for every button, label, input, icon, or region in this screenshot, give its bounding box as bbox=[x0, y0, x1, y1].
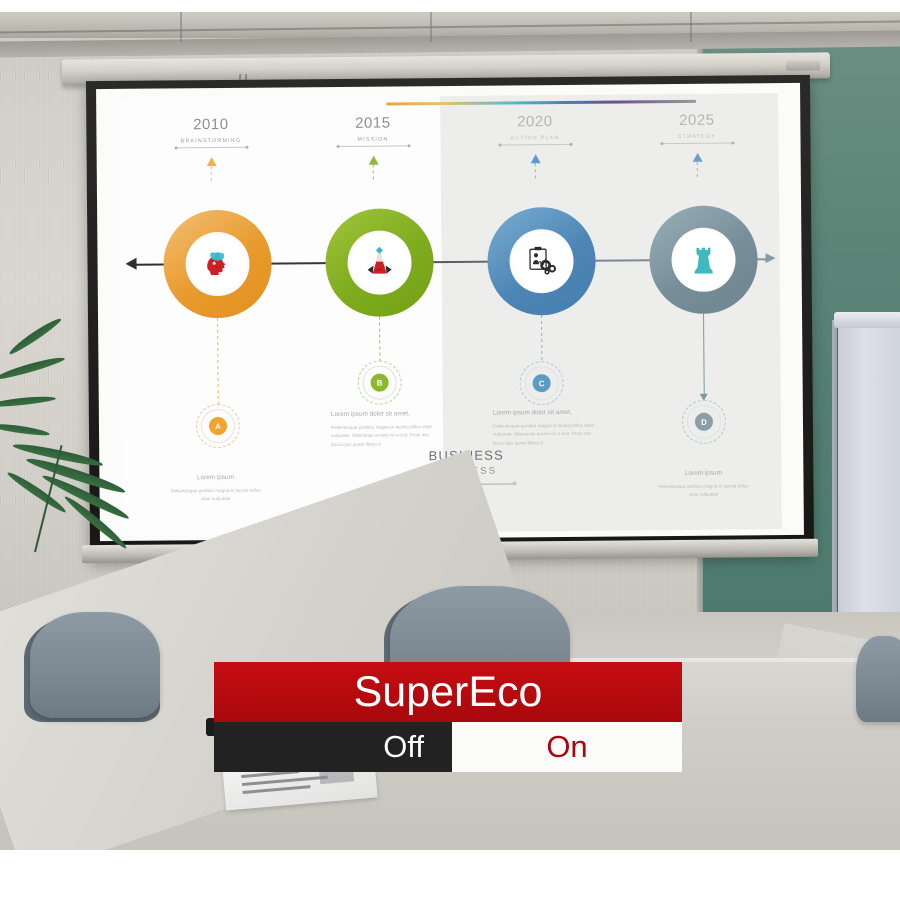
milestone-badge-d[interactable]: D bbox=[682, 400, 726, 444]
body-heading: Lorem ipsum bbox=[655, 467, 751, 480]
milestone-column-2010: 2010 BRAINSTORMING bbox=[128, 115, 294, 182]
connector-line-2010 bbox=[217, 318, 219, 404]
body-text: Pellentesque porttitor magna in lacinia … bbox=[659, 483, 749, 497]
milestone-ring-2020[interactable] bbox=[487, 207, 596, 316]
milestone-body-2015: Lorem ipsum dolor sit amet, Pellentesque… bbox=[331, 408, 435, 449]
badge-letter: A bbox=[209, 417, 227, 435]
milestone-body-2020: Lorem ipsum dolor sit amet, Pellentesque… bbox=[493, 407, 597, 448]
ceiling-tile-joint bbox=[690, 12, 692, 42]
milestone-dashed-stem bbox=[211, 166, 212, 182]
badge-letter: D bbox=[695, 413, 713, 431]
banner-off-label: Off bbox=[383, 729, 424, 765]
palm-frond bbox=[0, 394, 56, 408]
milestone-label: STRATEGY bbox=[614, 133, 779, 140]
body-text: Pellentesque porttitor magna in lacinia … bbox=[171, 488, 261, 502]
body-text: Pellentesque porttitor magna in lacinia … bbox=[331, 424, 432, 447]
banner-on-label: On bbox=[546, 729, 587, 765]
milestone-year: 2010 bbox=[128, 115, 293, 133]
chair-right[interactable] bbox=[856, 636, 900, 722]
badge-letter: C bbox=[533, 374, 551, 392]
ceiling-tile-joint bbox=[430, 12, 432, 42]
badge-letter: B bbox=[371, 374, 389, 392]
body-heading: Lorem ipsum dolor sit amet, bbox=[331, 408, 435, 421]
milestone-label: BRAINSTORMING bbox=[128, 137, 293, 144]
milestone-marker-triangle bbox=[530, 154, 540, 163]
palm-frond bbox=[0, 422, 50, 437]
timeline-arrow-left-icon bbox=[126, 258, 137, 270]
milestone-column-2025: 2025 STRATEGY bbox=[614, 111, 780, 178]
body-heading: Lorem ipsum dolor sit amet, bbox=[493, 407, 597, 420]
milestone-dashed-stem bbox=[373, 165, 374, 181]
connector-line-2015 bbox=[379, 317, 380, 361]
milestone-badge-a[interactable]: A bbox=[196, 404, 240, 448]
milestone-year: 2020 bbox=[452, 113, 617, 131]
milestone-icon-well bbox=[509, 229, 574, 294]
palm-frond bbox=[6, 469, 69, 515]
milestone-marker-triangle bbox=[368, 156, 378, 165]
milestone-label: MISSION bbox=[290, 136, 455, 143]
supereco-banner: SuperEco Off On bbox=[214, 662, 682, 772]
milestone-year: 2025 bbox=[614, 111, 779, 129]
milestone-badge-b[interactable]: B bbox=[357, 360, 401, 404]
milestone-body-2010: Lorem ipsum Pellentesque porttitor magna… bbox=[167, 472, 263, 505]
milestone-dashed-stem bbox=[535, 163, 536, 179]
milestone-icon-well bbox=[185, 232, 250, 297]
milestone-underline bbox=[175, 147, 247, 149]
palm-frond bbox=[7, 315, 63, 356]
chair-left[interactable] bbox=[30, 612, 160, 718]
milestone-icon-well bbox=[671, 228, 736, 293]
conference-room-photo: 2010 BRAINSTORMING 2015 MISSION 2020 ACT… bbox=[0, 12, 900, 850]
milestone-marker-triangle bbox=[206, 157, 216, 166]
flipchart-edge bbox=[832, 320, 837, 624]
palm-frond bbox=[0, 354, 66, 382]
head-brain-icon bbox=[200, 247, 234, 281]
milestone-icon-well bbox=[347, 230, 412, 295]
screenshot-root: 2010 BRAINSTORMING 2015 MISSION 2020 ACT… bbox=[0, 0, 900, 900]
clipboard-gears-icon bbox=[524, 244, 558, 278]
flipchart-board bbox=[838, 320, 900, 624]
body-text: Pellentesque porttitor magna in lacinia … bbox=[493, 423, 594, 446]
milestone-label: ACTION PLAN bbox=[452, 135, 617, 142]
milestone-ring-2025[interactable] bbox=[649, 205, 758, 314]
document-line bbox=[242, 776, 328, 786]
milestone-body-2025: Lorem ipsum Pellentesque porttitor magna… bbox=[655, 467, 751, 500]
banner-title: SuperEco bbox=[354, 668, 543, 717]
ceiling-tile-joint bbox=[180, 12, 182, 42]
milestone-ring-2010[interactable] bbox=[163, 210, 272, 319]
milestone-underline bbox=[661, 143, 733, 145]
milestone-ring-2015[interactable] bbox=[325, 208, 434, 317]
milestone-column-2020: 2020 ACTION PLAN bbox=[452, 113, 618, 180]
housing-end-cap bbox=[786, 60, 820, 70]
banner-on-cell[interactable]: On bbox=[452, 722, 682, 772]
milestone-year: 2015 bbox=[290, 114, 455, 132]
milestone-marker-triangle bbox=[692, 153, 702, 162]
timeline-arrow-right-icon bbox=[765, 253, 775, 263]
banner-off-cell[interactable]: Off bbox=[214, 722, 452, 772]
milestone-underline bbox=[499, 144, 571, 146]
chess-rook-icon bbox=[686, 243, 720, 277]
body-heading: Lorem ipsum bbox=[167, 472, 263, 485]
rocket-launch-icon bbox=[362, 245, 396, 279]
banner-title-bar: SuperEco bbox=[214, 662, 682, 722]
document-line bbox=[243, 785, 311, 794]
milestone-column-2015: 2015 MISSION bbox=[290, 114, 456, 181]
milestone-badge-c[interactable]: C bbox=[519, 361, 563, 405]
milestone-underline bbox=[337, 145, 409, 147]
milestone-dashed-stem bbox=[697, 162, 698, 178]
flipchart-top-rail bbox=[834, 312, 900, 328]
